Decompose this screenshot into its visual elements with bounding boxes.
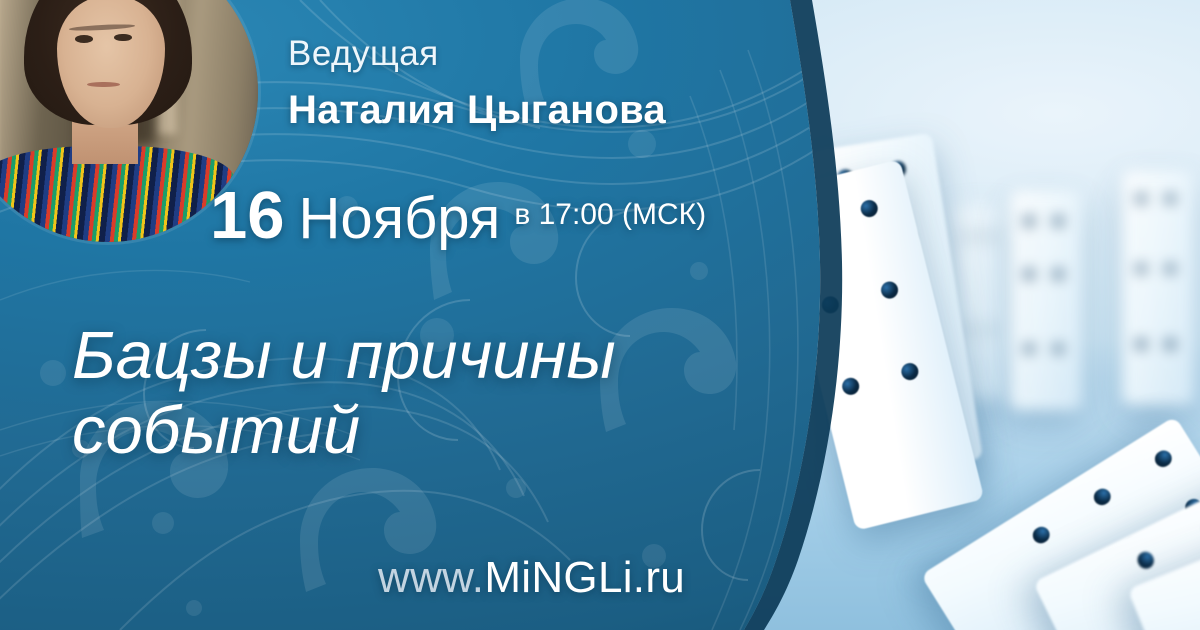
presenter-name: Наталия Цыганова — [288, 88, 666, 133]
domino-background-1 — [1010, 190, 1082, 410]
website-url[interactable]: www.MiNGLi.ru — [378, 553, 685, 603]
event-datetime: 16 Ноября в 17:00 (МСК) — [210, 182, 706, 249]
website-url-domain: MiNGLi.ru — [484, 553, 685, 602]
event-time: в 17:00 (МСК) — [514, 200, 706, 230]
photo-mouth — [87, 82, 120, 87]
webinar-banner: Ведущая Наталия Цыганова 16 Ноября в 17:… — [0, 0, 1200, 630]
event-month: Ноября — [299, 190, 501, 248]
event-day: 16 — [210, 182, 285, 249]
event-title: Бацзы и причины событий — [72, 318, 762, 468]
presenter-role-label: Ведущая — [288, 34, 439, 74]
domino-background-2 — [1122, 170, 1194, 405]
event-title-line-1: Бацзы и причины — [72, 318, 762, 393]
website-url-prefix: www. — [378, 553, 484, 602]
photo-eye-left — [75, 35, 93, 43]
event-title-line-2: событий — [72, 393, 762, 468]
